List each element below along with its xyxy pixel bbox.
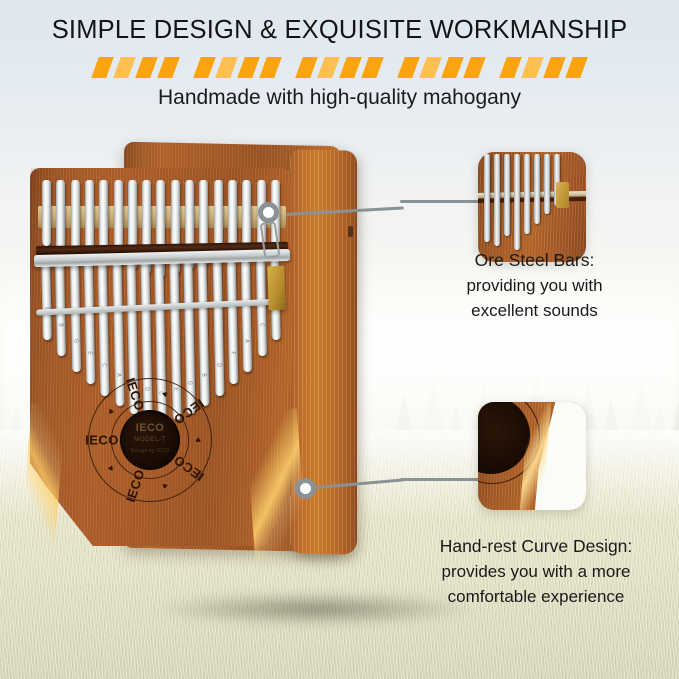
brass-name-plate — [267, 266, 286, 311]
soundhole-design-label: Design by IECO — [120, 448, 180, 454]
callout-line2-2: provides you with a more — [398, 559, 674, 584]
callout-leader-line-2b — [400, 478, 484, 481]
callout-text-2: Hand-rest Curve Design: provides you wit… — [398, 534, 674, 609]
tine-note-label: G — [187, 379, 193, 388]
kalimba-tine-upper — [71, 180, 80, 254]
heart-icon: ♥ — [195, 435, 201, 445]
tine-note-label: B — [201, 371, 207, 380]
callout-marker-2[interactable] — [295, 478, 316, 499]
slash-icon — [259, 57, 282, 78]
inset-tine — [524, 154, 530, 234]
slash-icon — [499, 57, 522, 78]
kalimba-tine-upper — [56, 180, 65, 250]
slash-icon — [419, 57, 442, 78]
inset-tine — [484, 154, 490, 242]
callout-leader-line-1b — [400, 200, 484, 203]
soundhole-ring-word: IECO — [85, 433, 119, 448]
slash-icon — [339, 57, 362, 78]
tine-note-label: A — [115, 371, 121, 380]
slash-group — [299, 57, 380, 78]
page-title: SIMPLE DESIGN & EXQUISITE WORKMANSHIP — [0, 16, 679, 45]
callout-text-1: Ore Steel Bars: providing you with excel… — [432, 248, 637, 323]
inset-tine — [534, 154, 540, 224]
callout-title-2: Hand-rest Curve Design: — [398, 534, 674, 559]
slash-group — [401, 57, 482, 78]
slash-icon — [397, 57, 420, 78]
slash-icon — [441, 57, 464, 78]
callout-marker-dot-icon — [300, 483, 311, 494]
inset-tine — [544, 154, 550, 214]
tines-closeup-inset — [478, 152, 586, 262]
handrest-closeup-inset: IECO — [478, 402, 586, 510]
kalimba-tine-lower — [41, 260, 52, 340]
kalimba-tine-lower — [227, 260, 239, 384]
kalimba-tine-lower — [84, 260, 96, 384]
orange-slash-divider — [0, 57, 679, 78]
slash-group — [503, 57, 584, 78]
callout-line3-2: comfortable experience — [398, 584, 674, 609]
slash-group — [95, 57, 176, 78]
slash-icon — [295, 57, 318, 78]
kalimba-tine-lower — [241, 260, 252, 372]
inset-tine — [494, 154, 500, 246]
inset-brass-plate — [556, 182, 569, 208]
tine-note-label: C — [101, 361, 107, 370]
callout-line2-1: providing you with — [432, 273, 637, 298]
slash-icon — [157, 57, 180, 78]
callout-title-1: Ore Steel Bars: — [432, 248, 637, 273]
slash-group — [197, 57, 278, 78]
product-infographic: SIMPLE DESIGN & EXQUISITE WORKMANSHIP Ha… — [0, 0, 679, 679]
callout-marker-1[interactable] — [258, 202, 279, 223]
slash-icon — [193, 57, 216, 78]
kalimba-tine-lower — [98, 260, 110, 396]
soundhole-brand-label: IECO — [120, 422, 180, 434]
slash-icon — [135, 57, 158, 78]
slash-icon — [543, 57, 566, 78]
slash-icon — [521, 57, 544, 78]
side-knob-icon — [348, 226, 353, 237]
tine-note-label: E — [86, 349, 92, 358]
slash-icon — [565, 57, 588, 78]
slash-icon — [463, 57, 486, 78]
inset-tine — [504, 154, 510, 236]
tine-note-label: A — [244, 337, 250, 346]
kalimba-tine-lower — [255, 260, 266, 356]
kalimba-tine-lower — [198, 260, 210, 406]
kalimba-tine-lower — [212, 260, 224, 396]
tine-note-label: F — [229, 349, 235, 358]
slash-icon — [113, 57, 136, 78]
tine-note-label: C — [258, 321, 264, 330]
kalimba-tine-lower — [69, 260, 80, 372]
slash-icon — [91, 57, 114, 78]
kalimba-tine-upper — [42, 180, 51, 246]
soundhole-model-label: MODEL-T — [120, 436, 180, 443]
slash-icon — [237, 57, 260, 78]
page-subtitle: Handmade with high-quality mahogany — [0, 86, 679, 110]
callout-marker-dot-icon — [263, 207, 274, 218]
soundhole-center: IECO MODEL-T Design by IECO — [120, 410, 180, 470]
tine-note-label: D — [215, 361, 221, 370]
callout-line3-1: excellent sounds — [432, 298, 637, 323]
tine-note-label: G — [72, 337, 78, 346]
slash-icon — [317, 57, 340, 78]
slash-icon — [361, 57, 384, 78]
inset-tine — [514, 154, 520, 250]
slash-icon — [215, 57, 238, 78]
tine-note-label: B — [58, 321, 64, 330]
